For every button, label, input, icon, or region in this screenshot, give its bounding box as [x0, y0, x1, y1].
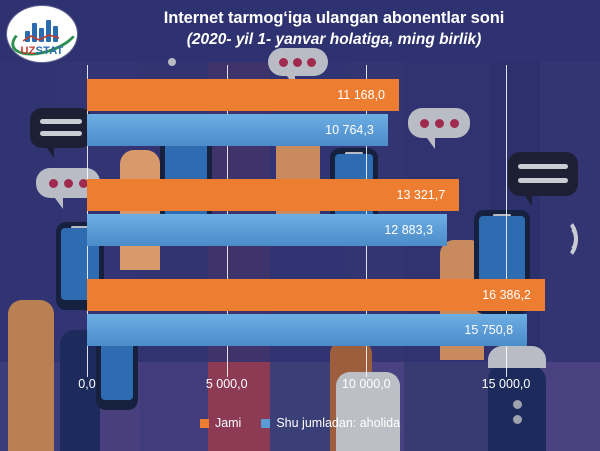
bar-chart: 0,0 5 000,0 10 000,0 15 000,0 2018- yil … [0, 0, 600, 451]
bar-aholida-2019[interactable]: 12 883,3 [87, 214, 447, 246]
bar-value-label: 15 750,8 [464, 323, 527, 337]
legend-item-aholida[interactable]: Shu jumladan: aholida [261, 416, 400, 430]
bar-value-label: 12 883,3 [384, 223, 447, 237]
infographic-root: UZSTAT Internet tarmog‘iga ulangan abone… [0, 0, 600, 451]
bar-jami-2018[interactable]: 11 168,0 [87, 79, 399, 111]
bar-jami-2020[interactable]: 16 386,2 [87, 279, 545, 311]
bar-value-label: 11 168,0 [337, 88, 399, 102]
bar-aholida-2018[interactable]: 10 764,3 [87, 114, 388, 146]
legend-item-jami[interactable]: Jami [200, 416, 241, 430]
legend-label-aholida: Shu jumladan: aholida [276, 416, 400, 430]
x-tick-label: 10 000,0 [342, 377, 391, 391]
legend-label-jami: Jami [215, 416, 241, 430]
x-tick-label: 0,0 [78, 377, 95, 391]
legend-swatch-jami [200, 419, 209, 428]
x-tick-label: 5 000,0 [206, 377, 248, 391]
bar-value-label: 13 321,7 [397, 188, 460, 202]
bar-value-label: 10 764,3 [325, 123, 388, 137]
bar-aholida-2020[interactable]: 15 750,8 [87, 314, 527, 346]
plot-area: 0,0 5 000,0 10 000,0 15 000,0 2018- yil … [87, 65, 506, 367]
bar-value-label: 16 386,2 [482, 288, 545, 302]
x-tick-label: 15 000,0 [482, 377, 531, 391]
chart-legend: Jami Shu jumladan: aholida [0, 416, 600, 430]
legend-swatch-aholida [261, 419, 270, 428]
bar-jami-2019[interactable]: 13 321,7 [87, 179, 459, 211]
